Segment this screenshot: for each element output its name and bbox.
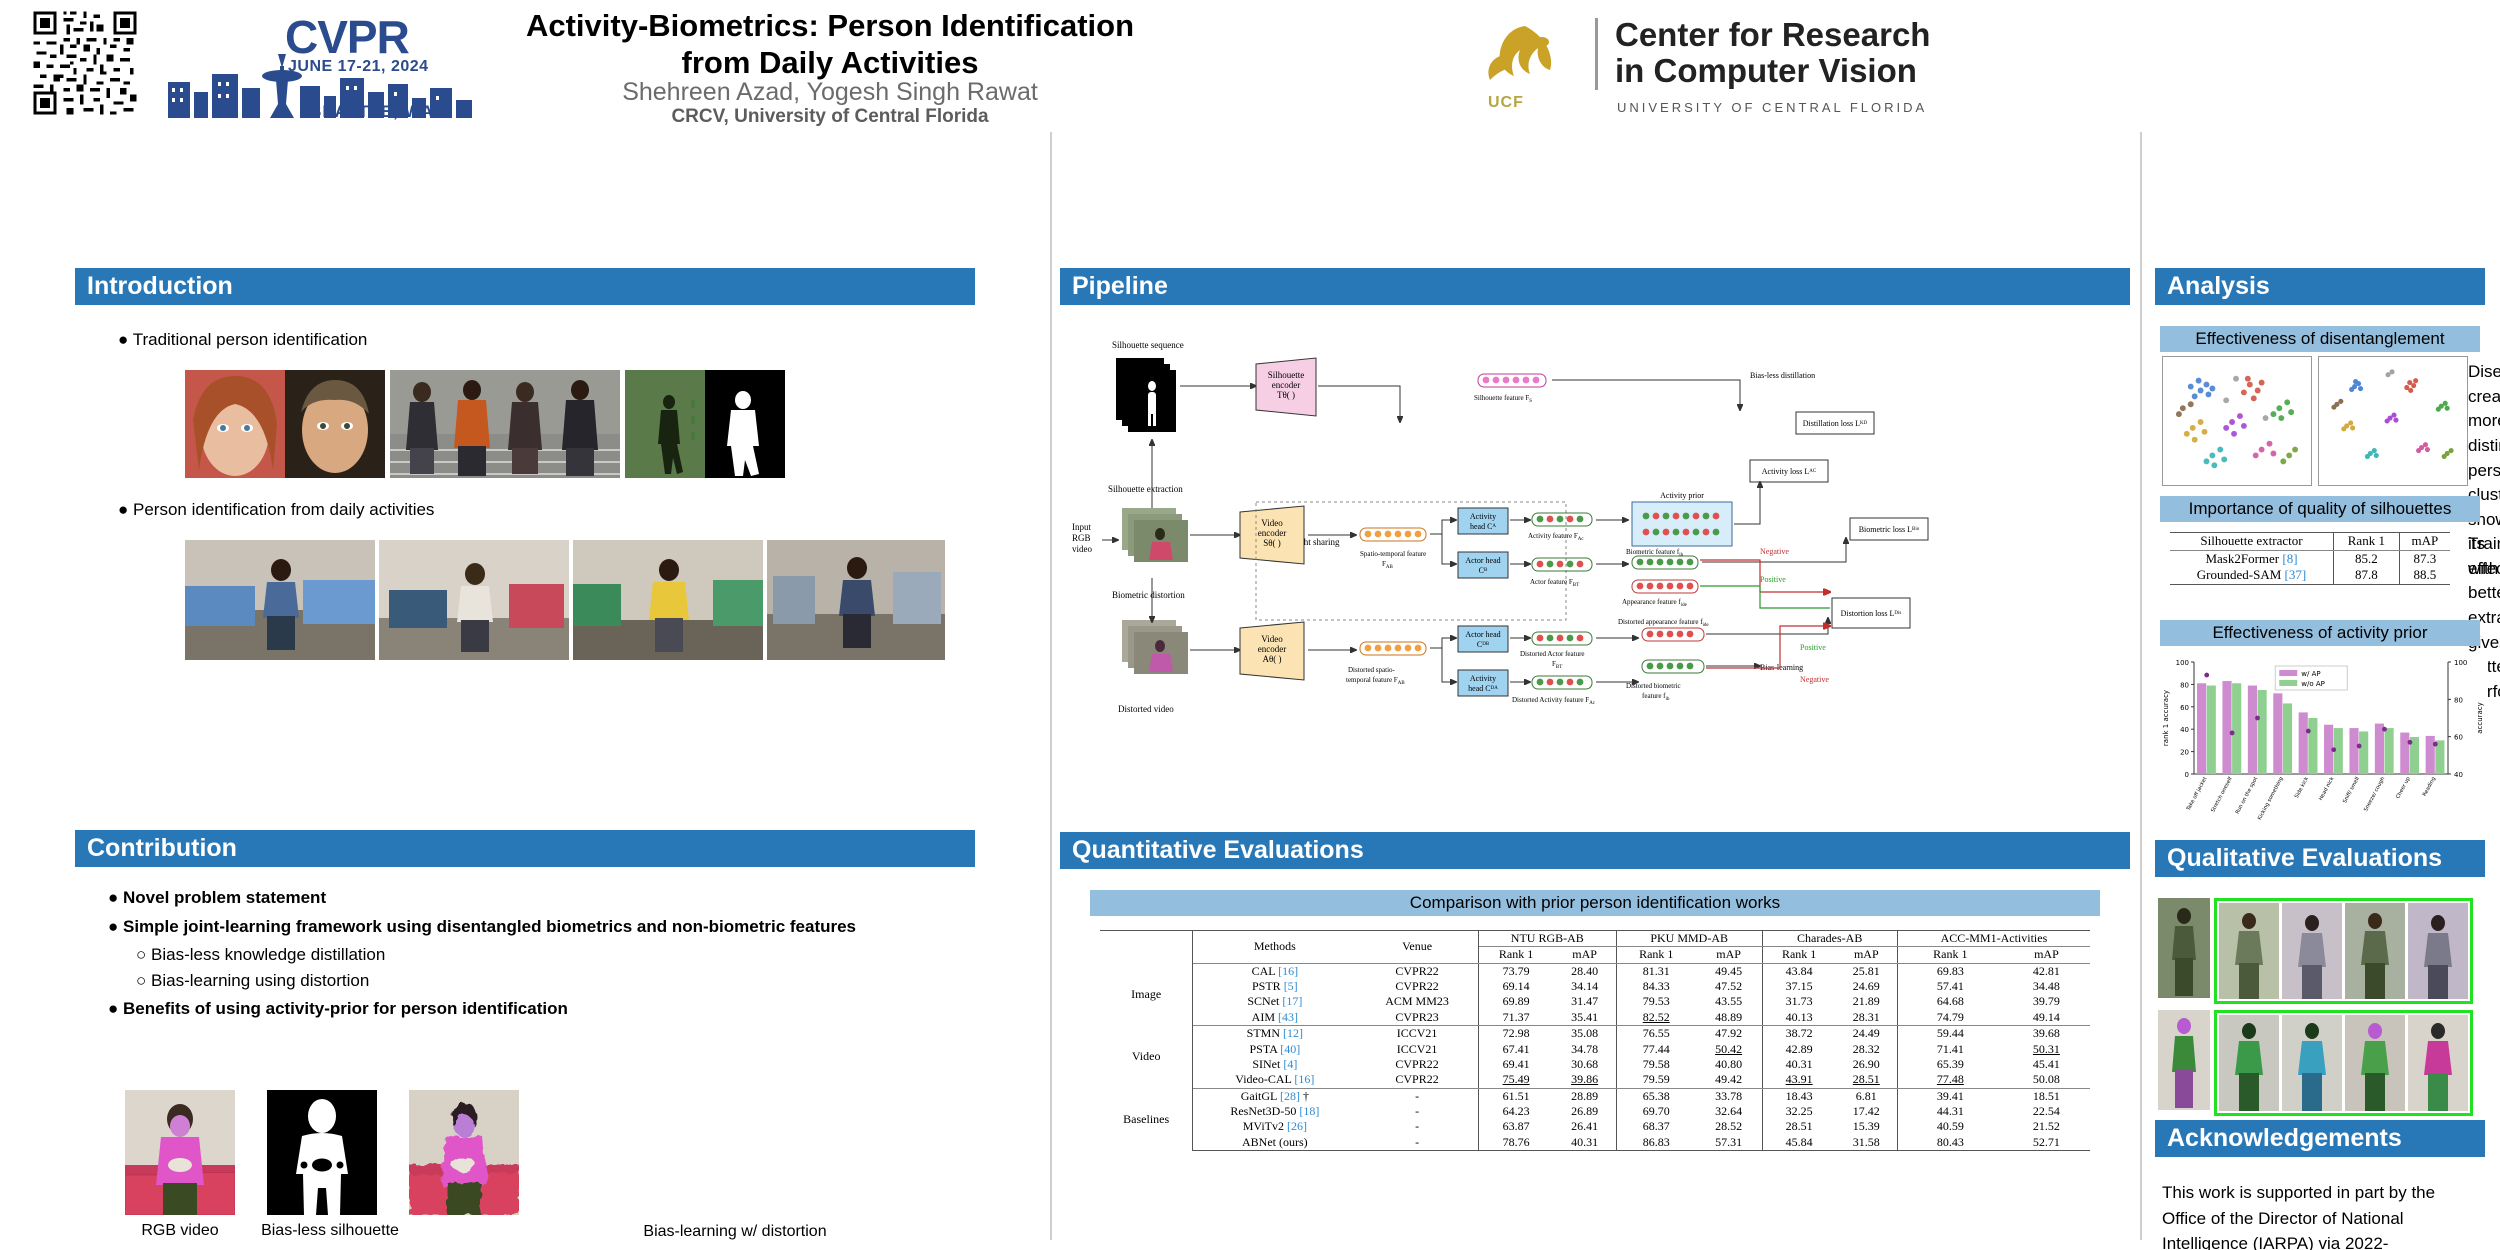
retrieval-group-1: [2214, 898, 2473, 1004]
svg-text:Input: Input: [1072, 522, 1091, 532]
contribution-subitem-text: Bias-less knowledge distillation: [151, 945, 385, 964]
bar-wAP-6: [2349, 728, 2358, 774]
column-divider-2: [2140, 132, 2142, 1240]
distortion-image: [409, 1090, 519, 1215]
bar-woAP-1: [2232, 683, 2241, 774]
retrieved-image: [2282, 903, 2342, 999]
svg-text:encoder: encoder: [1258, 528, 1286, 538]
svg-text:60: 60: [2454, 734, 2463, 742]
contribution-item-text: Novel problem statement: [123, 888, 326, 907]
face-pair-image: [185, 370, 385, 478]
author-list: Shehreen Azad, Yogesh Singh Rawat: [500, 78, 1160, 107]
label-biometric-distortion: Biometric distortion: [1112, 590, 1185, 600]
label-silhouette-sequence: Silhouette sequence: [1112, 340, 1184, 350]
svg-text:Distorted spatio-: Distorted spatio-: [1348, 666, 1396, 674]
svg-text:20: 20: [2180, 749, 2189, 757]
pipeline-svg: Silhouette sequence Silhouette extractio…: [1060, 330, 2135, 820]
intro-bullet-1: ● Traditional person identification: [118, 330, 367, 350]
svg-text:rank 1 accuracy: rank 1 accuracy: [2162, 690, 2170, 746]
svg-text:Bias-less distillation: Bias-less distillation: [1750, 371, 1815, 380]
ucf-crcv-logo: UCF Center for Research in Computer Visi…: [1480, 14, 2480, 119]
ucf-pegasus-icon: [1480, 22, 1570, 90]
tsne-plot-disentangled: [2318, 356, 2468, 486]
crcv-line1: Center for Research: [1615, 16, 1930, 54]
section-header-contribution: Contribution: [75, 830, 975, 867]
intro-image-row-2: [185, 540, 945, 660]
section-header-pipeline: Pipeline: [1060, 268, 2130, 305]
column-divider-1: [1050, 132, 1052, 1240]
svg-text:Sθ( ): Sθ( ): [1263, 538, 1281, 548]
svg-text:Actor head: Actor head: [1465, 556, 1500, 565]
svg-text:Activity: Activity: [1470, 674, 1496, 683]
ucf-subtitle: UNIVERSITY OF CENTRAL FLORIDA: [1617, 100, 1927, 115]
crcv-line2: in Computer Vision: [1615, 52, 1917, 90]
svg-text:100: 100: [2454, 659, 2467, 667]
contribution-item: ● Benefits of using activity-prior for p…: [108, 999, 988, 1019]
svg-text:Actor head: Actor head: [1465, 630, 1500, 639]
svg-text:w/ AP: w/ AP: [2301, 670, 2320, 678]
svg-text:encoder: encoder: [1272, 380, 1300, 390]
rgb-video-image: [125, 1090, 235, 1215]
retrieved-image: [2219, 1015, 2279, 1111]
retrieval-group-2: [2214, 1010, 2473, 1116]
svg-text:Distortion loss LDis: Distortion loss LDis: [1841, 609, 1902, 618]
pipeline-diagram: Silhouette sequence Silhouette extractio…: [1060, 330, 2135, 820]
qualitative-row-2: [2158, 1010, 2473, 1116]
bar-wAP-8: [2400, 733, 2409, 774]
qr-code-icon: [30, 8, 140, 118]
retrieved-image: [2282, 1015, 2342, 1111]
svg-text:Distorted biometric: Distorted biometric: [1626, 682, 1681, 690]
query-image-2: [2158, 1010, 2210, 1110]
retrieved-image: [2345, 903, 2405, 999]
gait-silhouette-pair-image: [625, 370, 785, 478]
label-distorted-video: Distorted video: [1118, 704, 1174, 714]
cvpr-logo: CVPR JUNE 17-21, 2024: [160, 6, 480, 124]
contribution-subitem-text: Bias-learning using distortion: [151, 971, 369, 990]
svg-text:Distillation loss LKD: Distillation loss LKD: [1803, 419, 1868, 428]
bar-wAP-0: [2197, 683, 2206, 774]
caption-distortion: Bias-learning w/ distortion: [640, 1222, 830, 1241]
svg-text:Activity prior: Activity prior: [1660, 491, 1704, 500]
svg-text:Positive: Positive: [1800, 643, 1826, 652]
label-silhouette-extraction: Silhouette extraction: [1108, 484, 1183, 494]
section-header-quantitative: Quantitative Evaluations: [1060, 832, 2130, 869]
silhouette-image: [267, 1090, 377, 1215]
subheader-comparison: Comparison with prior person identificat…: [1090, 890, 2100, 916]
bullet-marker: ●: [118, 500, 128, 519]
activity-image-2: [379, 540, 569, 660]
intro-bullet-1-text: Traditional person identification: [133, 330, 368, 349]
comparison-table: MethodsVenueNTU RGB-ABPKU MMD-ABCharades…: [1100, 930, 2090, 1151]
svg-text:encoder: encoder: [1258, 644, 1286, 654]
retrieved-image: [2219, 903, 2279, 999]
label-negative: Negative: [1760, 547, 1789, 556]
contribution-list: ● Novel problem statement ● Simple joint…: [108, 888, 988, 1019]
affiliation: CRCV, University of Central Florida: [500, 106, 1160, 128]
intro-bullet-2-text: Person identification from daily activit…: [133, 500, 434, 519]
contribution-image-row: [125, 1090, 519, 1215]
silhouette-extractor-table: Silhouette extractorRank 1mAPMask2Former…: [2170, 532, 2450, 585]
contribution-item-text: Simple joint-learning framework using di…: [123, 917, 856, 936]
contribution-subitem: ○ Bias-less knowledge distillation: [136, 945, 988, 965]
bar-wAP-1: [2222, 681, 2231, 774]
svg-text:Activity: Activity: [1470, 512, 1496, 521]
svg-text:80: 80: [2454, 696, 2463, 704]
activity-prior-chart-svg: 020406080100406080100Take off jacketStre…: [2158, 652, 2488, 832]
svg-text:Video: Video: [1261, 518, 1283, 528]
svg-text:Spatio-temporal feature: Spatio-temporal feature: [1360, 550, 1426, 558]
retrieved-image: [2408, 903, 2468, 999]
bar-wAP-3: [2273, 693, 2282, 774]
contribution-subitem: ○ Bias-learning using distortion: [136, 971, 988, 991]
bar-wAP-4: [2299, 712, 2308, 774]
qualitative-row-1: [2158, 898, 2473, 1004]
bar-woAP-2: [2258, 690, 2267, 774]
logo-divider: [1595, 18, 1598, 90]
contribution-item: ● Simple joint-learning framework using …: [108, 916, 988, 939]
cvpr-city: SEATTLE, WA: [310, 102, 434, 122]
section-header-qualitative: Qualitative Evaluations: [2155, 840, 2485, 877]
section-header-acknowledgements: Acknowledgements: [2155, 1120, 2485, 1157]
bar-woAP-3: [2283, 703, 2292, 774]
activity-image-4: [767, 540, 945, 660]
subheader-disentanglement: Effectiveness of disentanglement: [2160, 326, 2480, 352]
svg-text:Distorted Actor feature: Distorted Actor feature: [1520, 650, 1585, 658]
svg-text:80: 80: [2180, 681, 2189, 689]
svg-text:RGB: RGB: [1072, 533, 1091, 543]
bullet-marker: ●: [118, 330, 128, 349]
poster-header: CVPR JUNE 17-21, 2024: [0, 0, 2500, 130]
bar-wAP-9: [2426, 736, 2435, 774]
intro-bullet-2: ● Person identification from daily activ…: [118, 500, 434, 520]
svg-text:100: 100: [2176, 659, 2189, 667]
bar-woAP-4: [2308, 718, 2317, 774]
subheader-silhouette-quality: Importance of quality of silhouettes: [2160, 496, 2480, 522]
svg-text:accuracy: accuracy: [2476, 702, 2484, 734]
svg-text:Aθ( ): Aθ( ): [1262, 654, 1281, 664]
ucf-wordmark: UCF: [1488, 94, 1524, 112]
retrieved-image: [2345, 1015, 2405, 1111]
acknowledgements-text: This work is supported in part by the Of…: [2162, 1180, 2482, 1250]
svg-text:40: 40: [2454, 771, 2463, 779]
contribution-item: ● Novel problem statement: [108, 888, 988, 908]
svg-text:60: 60: [2180, 704, 2189, 712]
bar-woAP-7: [2385, 728, 2394, 774]
section-header-introduction: Introduction: [75, 268, 975, 305]
retrieved-image: [2408, 1015, 2468, 1111]
tsne-plots: [2162, 356, 2468, 486]
label-positive: Positive: [1760, 575, 1786, 584]
section-header-analysis: Analysis: [2155, 268, 2485, 305]
poster-root: CVPR JUNE 17-21, 2024: [0, 0, 2500, 1250]
poster-title: Activity-Biometrics: Person Identificati…: [500, 8, 1160, 81]
bar-wAP-7: [2375, 724, 2384, 774]
svg-text:Video: Video: [1261, 634, 1283, 644]
subheader-activity-prior: Effectiveness of activity prior: [2160, 620, 2480, 646]
svg-text:w/o AP: w/o AP: [2301, 680, 2325, 688]
tsne-plot-entangled: [2162, 356, 2312, 486]
svg-text:Activity loss LAC: Activity loss LAC: [1762, 467, 1817, 476]
svg-text:40: 40: [2180, 726, 2189, 734]
activity-image-1: [185, 540, 375, 660]
intro-image-row-1: [185, 370, 945, 478]
bar-woAP-0: [2207, 686, 2216, 774]
activity-prior-chart: 020406080100406080100Take off jacketStre…: [2158, 652, 2488, 832]
svg-text:0: 0: [2185, 771, 2189, 779]
bar-woAP-6: [2359, 731, 2368, 774]
svg-text:Biometric loss LBio: Biometric loss LBio: [1859, 525, 1920, 534]
activity-image-3: [573, 540, 763, 660]
query-image-1: [2158, 898, 2210, 998]
svg-text:Tθ( ): Tθ( ): [1277, 390, 1295, 400]
street-pedestrians-image: [390, 370, 620, 478]
bar-wAP-2: [2248, 686, 2257, 774]
contribution-item-text: Benefits of using activity-prior for per…: [123, 999, 568, 1018]
caption-silhouette: Bias-less silhouette: [230, 1222, 430, 1240]
svg-text:Silhouette: Silhouette: [1268, 370, 1305, 380]
svg-text:Negative: Negative: [1800, 675, 1829, 684]
svg-text:video: video: [1072, 544, 1092, 554]
caption-rgb-video: RGB video: [120, 1222, 240, 1240]
